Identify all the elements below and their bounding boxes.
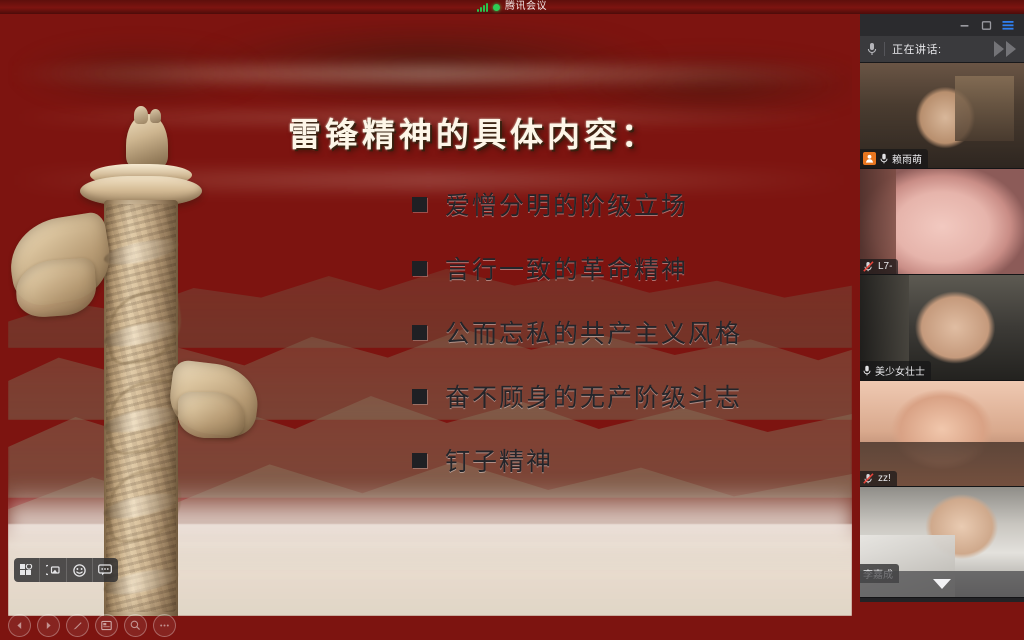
slide-canvas[interactable]: 雷锋精神的具体内容： 爱憎分明的阶级立场 言行一致的革命精神 公而忘私的共产主义…	[8, 20, 852, 616]
participant-name-bar: 赖雨萌	[860, 149, 928, 168]
bullet-text: 奋不顾身的无产阶级斗志	[445, 378, 742, 414]
scroll-down-button[interactable]	[860, 571, 1024, 597]
participant-name: 赖雨萌	[892, 151, 922, 166]
participant-tile[interactable]: zz!	[860, 381, 1024, 487]
signal-bars-icon	[477, 3, 488, 12]
cloud-wing-right-lower	[178, 392, 244, 438]
emoji-icon[interactable]	[67, 558, 93, 582]
divider	[884, 42, 885, 56]
bullet-text: 公而忘私的共产主义风格	[445, 314, 742, 350]
double-chevron-icon[interactable]	[994, 41, 1016, 57]
triangle-down-icon	[933, 579, 951, 589]
speaking-status-bar: 正在讲话:	[860, 36, 1024, 63]
minimize-button[interactable]	[958, 19, 970, 31]
list-item: 奋不顾身的无产阶级斗志	[412, 378, 832, 414]
presentation-frame: 雷锋精神的具体内容： 爱憎分明的阶级立场 言行一致的革命精神 公而忘私的共产主义…	[0, 14, 860, 640]
slide-menu-button[interactable]	[95, 614, 118, 637]
microphone-icon	[863, 365, 871, 376]
microphone-icon	[867, 42, 877, 56]
participant-name-bar: zz!	[860, 471, 897, 486]
participant-name-bar: 美少女壮士	[860, 361, 931, 380]
participant-name: 美少女壮士	[875, 363, 925, 378]
list-view-button[interactable]	[1002, 19, 1014, 31]
bullet-marker-icon	[412, 197, 427, 212]
participant-name: L7-	[878, 261, 892, 272]
video-participants-panel[interactable]: 正在讲话: 赖雨萌 L7-	[860, 14, 1024, 602]
bullet-marker-icon	[412, 453, 427, 468]
slide-floating-toolbar[interactable]	[14, 558, 118, 582]
video-panel-titlebar	[860, 14, 1024, 36]
slide-title: 雷锋精神的具体内容：	[8, 108, 852, 156]
microphone-muted-icon	[863, 261, 874, 272]
microphone-muted-icon	[863, 473, 874, 484]
apps-grid-icon[interactable]	[14, 558, 40, 582]
bullet-marker-icon	[412, 325, 427, 340]
app-title: 腾讯会议	[505, 0, 547, 14]
list-item: 公而忘私的共产主义风格	[412, 314, 832, 350]
microphone-icon	[880, 153, 888, 164]
bullet-text: 钉子精神	[445, 442, 553, 478]
bullet-marker-icon	[412, 261, 427, 276]
list-item: 言行一致的革命精神	[412, 250, 832, 286]
avatar-badge-icon	[863, 152, 876, 165]
huabiao-pillar-illustration	[10, 92, 240, 616]
online-dot-icon	[493, 4, 500, 11]
slide-bullet-list: 爱憎分明的阶级立场 言行一致的革命精神 公而忘私的共产主义风格 奋不顾身的无产阶…	[412, 186, 832, 506]
participant-tile[interactable]: 李嘉成	[860, 487, 1024, 598]
participant-tile[interactable]: L7-	[860, 169, 1024, 275]
cloud-streak	[8, 66, 852, 82]
list-item: 爱憎分明的阶级立场	[412, 186, 832, 222]
bullet-text: 爱憎分明的阶级立场	[445, 186, 688, 222]
presentation-control-bar[interactable]	[0, 610, 868, 640]
system-top-bar: 腾讯会议	[0, 0, 1024, 14]
prev-slide-button[interactable]	[8, 614, 31, 637]
participant-tile[interactable]: 赖雨萌	[860, 63, 1024, 169]
bullet-text: 言行一致的革命精神	[445, 250, 688, 286]
participant-name: zz!	[878, 473, 891, 484]
zoom-button[interactable]	[124, 614, 147, 637]
restore-button[interactable]	[980, 19, 992, 31]
next-slide-button[interactable]	[37, 614, 60, 637]
participant-name-bar: L7-	[860, 259, 898, 274]
participant-tile[interactable]: 美少女壮士	[860, 275, 1024, 381]
more-options-button[interactable]	[153, 614, 176, 637]
speaking-label: 正在讲话:	[892, 41, 942, 57]
pen-tool-button[interactable]	[66, 614, 89, 637]
annotate-pen-icon[interactable]	[40, 558, 66, 582]
bullet-marker-icon	[412, 389, 427, 404]
list-item: 钉子精神	[412, 442, 832, 478]
comment-icon[interactable]	[93, 558, 118, 582]
